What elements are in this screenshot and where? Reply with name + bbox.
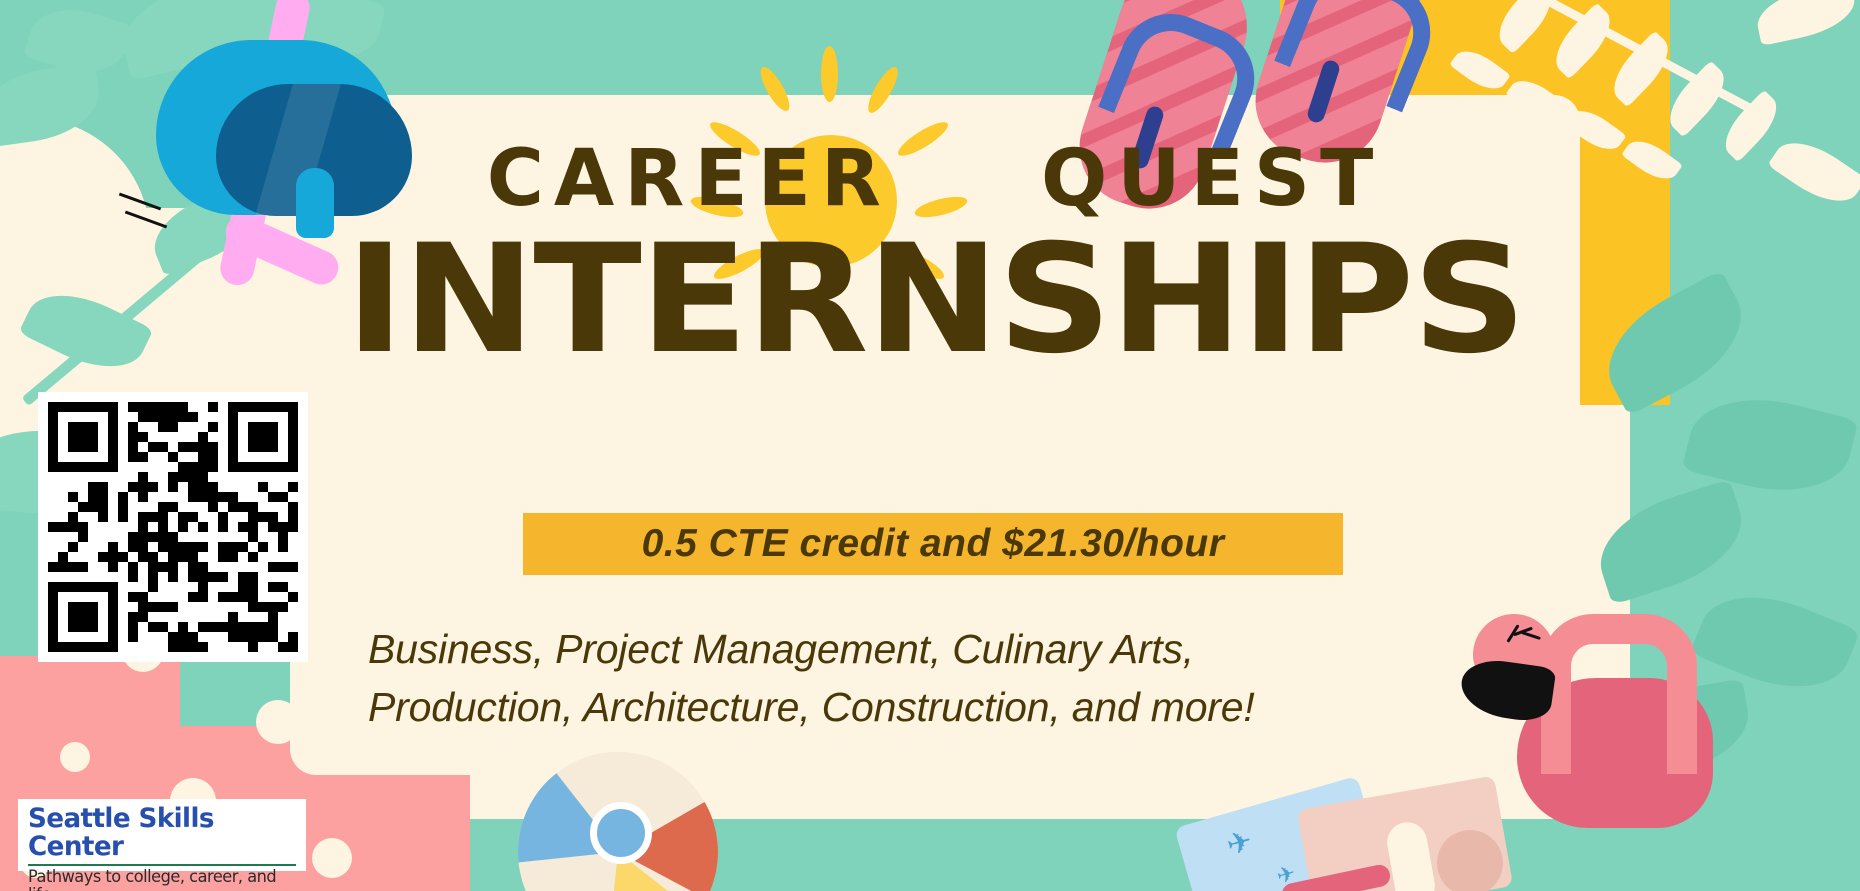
seattle-skills-center-logo: Seattle Skills Center Pathways to colleg… [18, 799, 306, 871]
logo-name: Seattle Skills Center [28, 805, 288, 862]
ball-hub [590, 802, 652, 864]
snorkel-mask-icon [118, 18, 408, 258]
sun-ray [821, 46, 838, 102]
program-list-line-2: Production, Architecture, Construction, … [368, 678, 1468, 736]
detail-tick [119, 193, 161, 211]
qr-code-canvas[interactable] [48, 402, 298, 652]
sun-ray [711, 244, 768, 284]
sun-ray [894, 117, 952, 161]
mask-nose-notch [296, 168, 334, 238]
sun-ray [756, 63, 795, 114]
sun-ray [891, 244, 948, 284]
credit-pay-text: 0.5 CTE credit and $21.30/hour [642, 522, 1225, 566]
program-list-line-1: Business, Project Management, Culinary A… [368, 620, 1468, 678]
travel-tickets-icon: ✈ ✈ [1185, 778, 1515, 891]
poster-canvas: CAREER QUEST INTERNSHIPS 0.5 CTE credit … [0, 0, 1860, 891]
sun-icon [705, 40, 955, 300]
flamingo-neck [1541, 614, 1697, 774]
polka-dot [312, 838, 352, 878]
logo-divider [28, 864, 296, 866]
logo-tagline: Pathways to college, career, and life [28, 868, 283, 891]
sun-ray [863, 63, 903, 116]
polka-dot [60, 742, 90, 772]
program-list: Business, Project Management, Culinary A… [368, 620, 1468, 736]
sun-ray [706, 117, 764, 161]
flip-flop-right [1241, 0, 1440, 178]
flip-flops-icon [1100, 0, 1520, 260]
flamingo-beak [1458, 656, 1557, 724]
credit-pay-highlight-bar: 0.5 CTE credit and $21.30/hour [523, 513, 1343, 575]
sun-core [765, 135, 897, 267]
mask-frame [156, 40, 396, 215]
detail-tick [125, 211, 167, 229]
qr-code[interactable] [38, 392, 308, 662]
